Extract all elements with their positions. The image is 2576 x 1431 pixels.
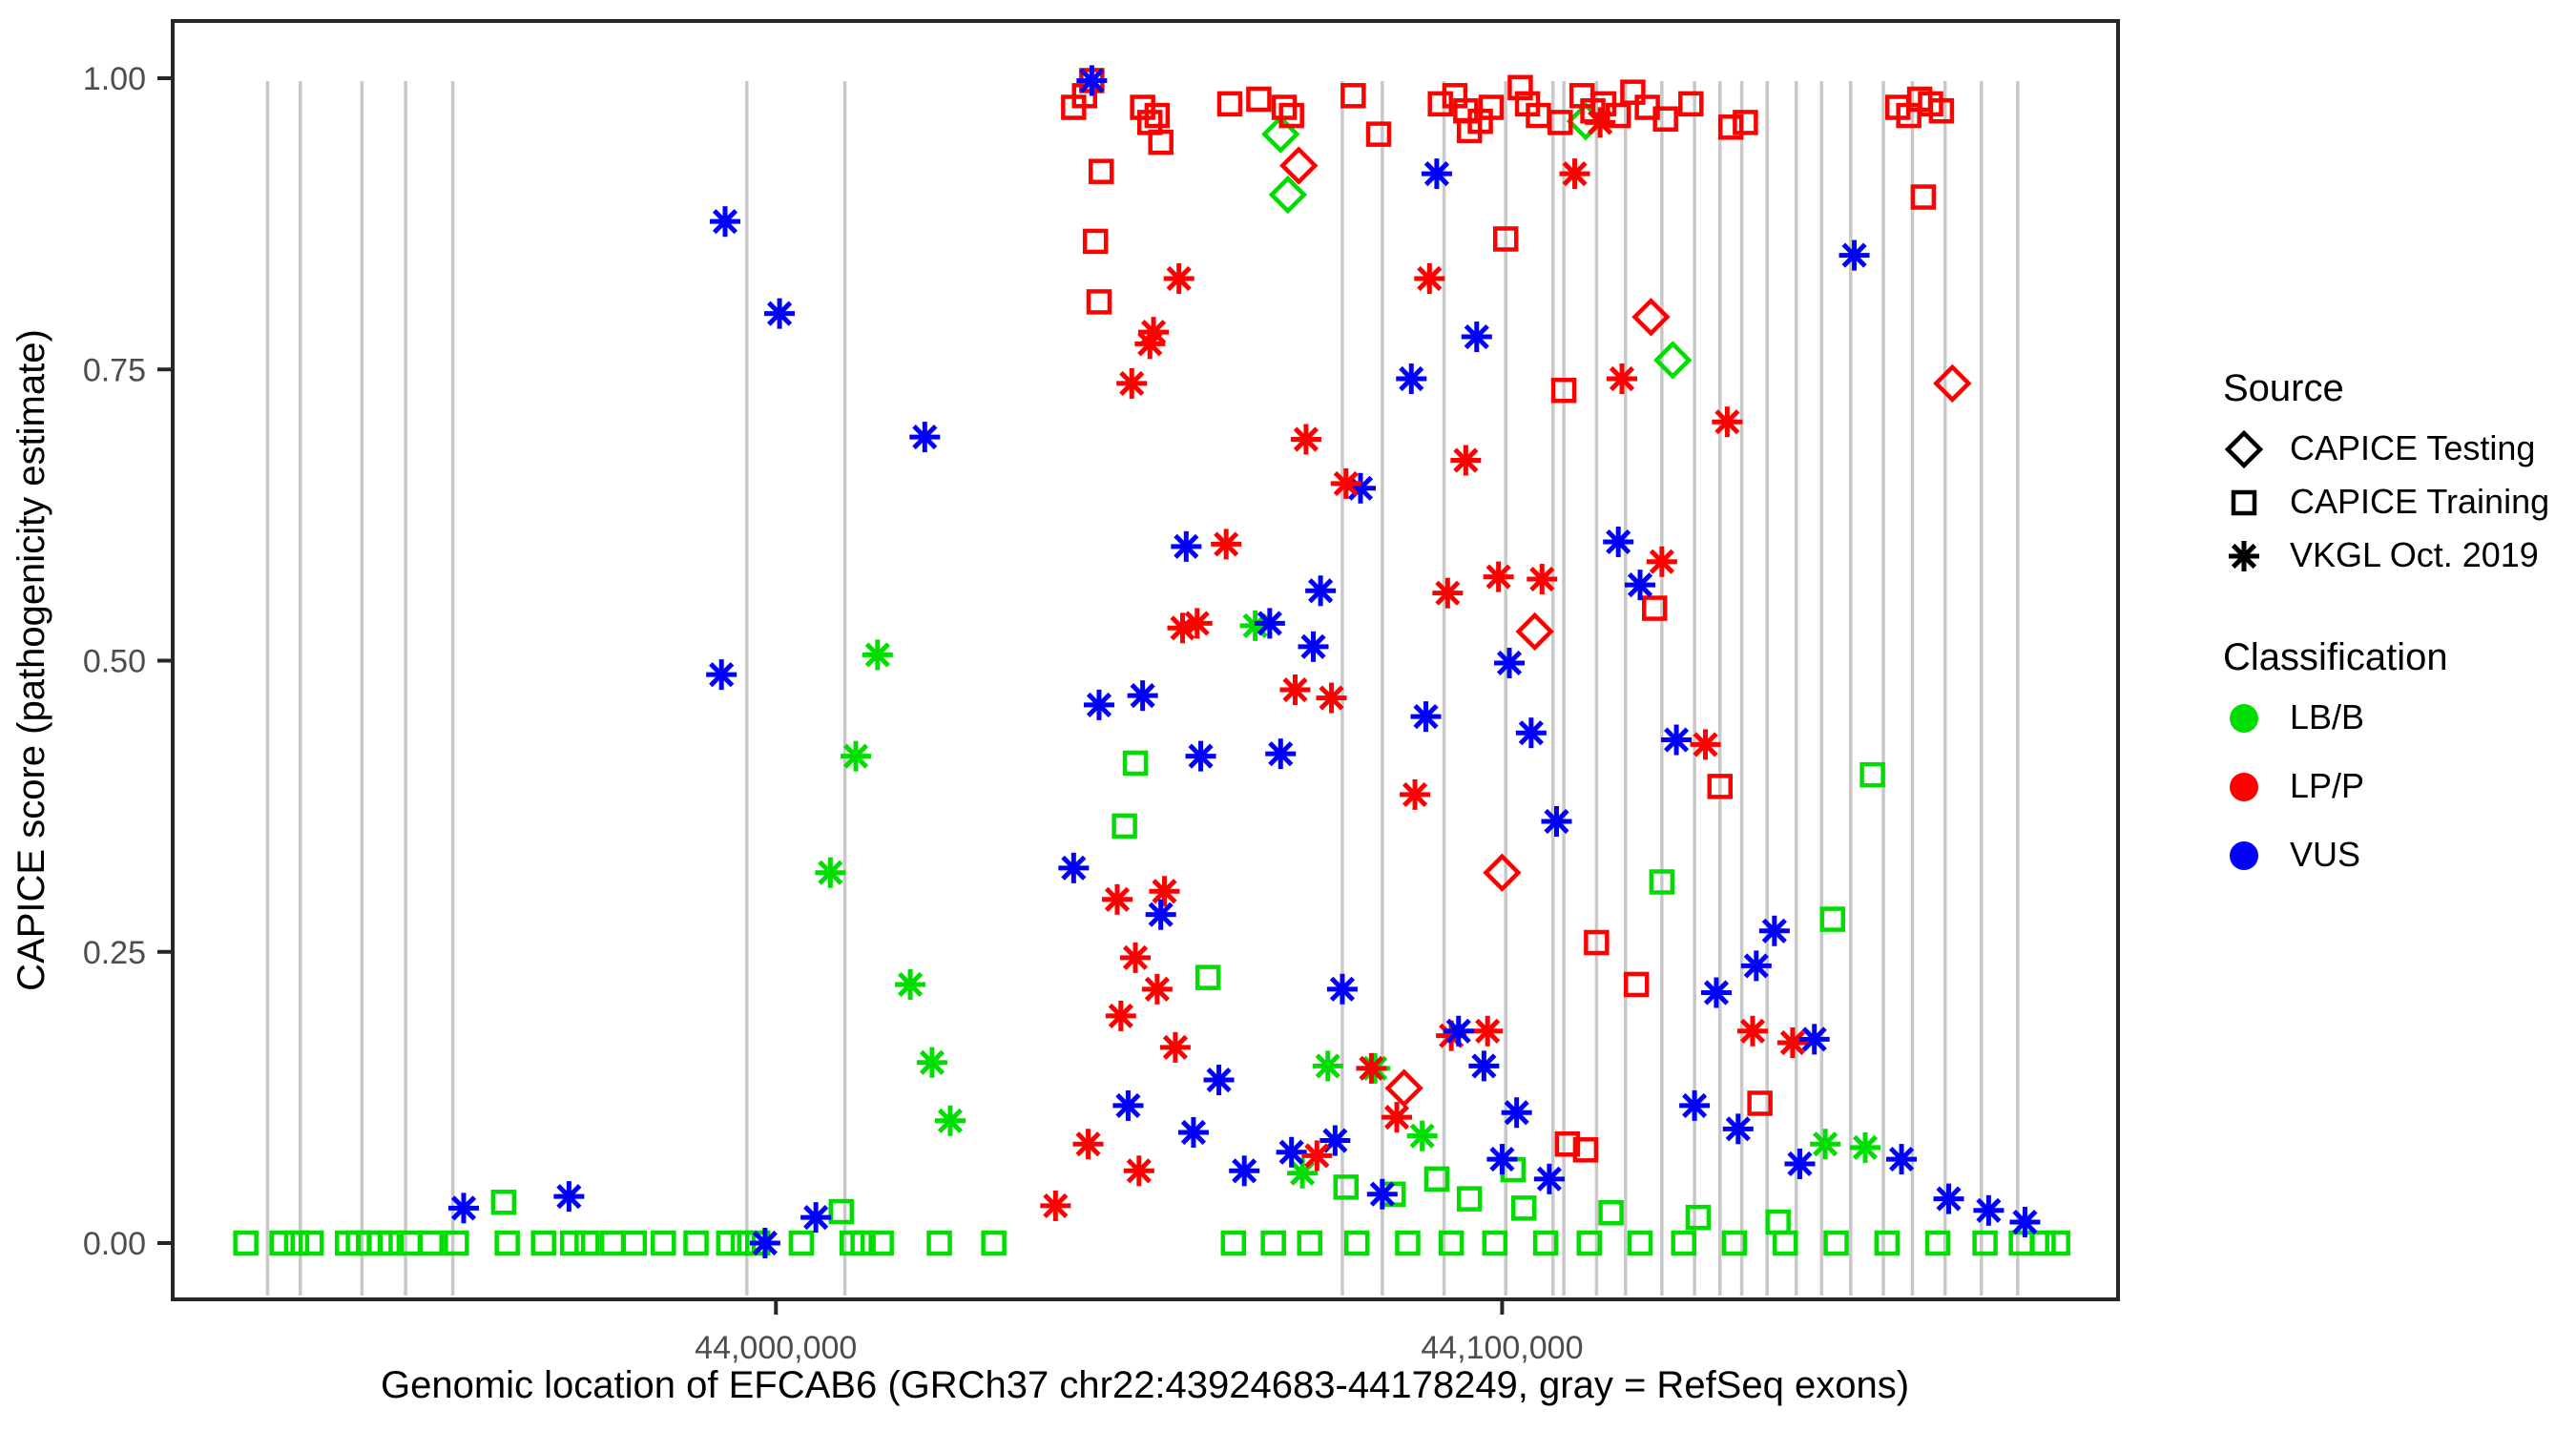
legend-item-diamond[interactable]: CAPICE Testing [2290,428,2535,467]
point-square [1091,161,1111,182]
point-asterisk [1494,648,1525,678]
point-asterisk [1178,1117,1209,1148]
legend-item-LB-B[interactable]: LB/B [2290,697,2364,736]
point-square [1223,1233,1244,1254]
point-asterisk [1484,562,1514,592]
point-square [1975,1233,1996,1254]
point-diamond [1388,1072,1421,1105]
point-square [1459,1189,1480,1210]
point-square [272,1233,293,1254]
point-asterisk [1396,363,1426,394]
point-asterisk [1265,738,1296,769]
point-asterisk [1462,321,1492,352]
point-square [1630,1233,1651,1254]
point-asterisk [1164,263,1195,294]
point-asterisk [1327,974,1358,1005]
point-asterisk [1211,529,1241,559]
point-asterisk [1839,240,1870,271]
point-asterisk [1186,741,1216,772]
point-square [1274,97,1295,118]
point-asterisk [1102,884,1132,915]
legend-item-LP-P[interactable]: LP/P [2290,766,2364,805]
point-asterisk [1279,674,1310,705]
point-square [576,1233,597,1254]
legend-swatch [2230,704,2258,733]
legend-item-square[interactable]: CAPICE Training [2290,482,2549,521]
y-axis: 0.000.250.500.751.00 [83,61,173,1262]
point-diamond [1485,857,1518,889]
y-tick-label: 1.00 [83,61,146,97]
point-square [1125,753,1146,774]
point-asterisk [1625,570,1655,600]
point-square [1342,85,1363,106]
point-square [1397,1233,1418,1254]
point-square [1680,93,1701,114]
point-square [984,1233,1005,1254]
point-asterisk [1472,1016,1503,1047]
point-asterisk [1723,1113,1754,1144]
point-square [1346,1233,1367,1254]
point-square [1626,974,1647,995]
legend-title-classification: Classification [2223,636,2448,678]
point-asterisk [1112,1090,1143,1121]
point-asterisk [1168,612,1198,643]
point-asterisk [1255,608,1285,638]
y-tick-label: 0.50 [83,644,146,680]
legend-swatch [2230,773,2258,801]
point-square [624,1233,645,1254]
point-square [1768,1212,1789,1233]
point-asterisk [1356,1053,1386,1084]
data-points-layer [236,65,2068,1258]
point-asterisk [1712,406,1742,437]
point-asterisk [862,639,893,670]
point-asterisk [1850,1132,1880,1163]
point-asterisk [1444,1016,1474,1047]
point-asterisk [1291,425,1321,455]
point-asterisk [1106,1001,1136,1031]
chart-root: 0.000.250.500.751.00 44,000,00044,100,00… [0,0,2576,1431]
point-asterisk [1128,680,1158,711]
y-axis-title: CAPICE score (pathogenicity estimate) [10,329,52,991]
point-asterisk [1647,547,1677,577]
panel-border [173,21,2118,1299]
point-asterisk [1422,158,1452,189]
x-axis-title: Genomic location of EFCAB6 (GRCh37 chr22… [381,1364,1909,1406]
point-square [1775,1233,1796,1254]
point-asterisk [1171,531,1201,562]
point-asterisk [1541,806,1571,837]
point-asterisk [1741,950,1772,981]
point-square [1826,1233,1847,1254]
point-square [2233,492,2254,513]
point-square [831,1201,852,1222]
point-asterisk [1799,1024,1830,1054]
point-square [1485,1233,1506,1254]
point-asterisk [1661,725,1692,756]
legend-swatch [2230,841,2258,870]
x-tick-label: 44,000,000 [695,1330,857,1366]
point-square [1085,231,1106,252]
point-square [1336,1176,1357,1197]
point-asterisk [2009,1207,2040,1237]
point-square [1862,764,1883,785]
point-square [493,1192,514,1213]
x-axis: 44,000,00044,100,000 [695,1299,1583,1366]
point-asterisk [1691,729,1721,759]
point-asterisk [1120,943,1151,973]
point-asterisk [1450,445,1481,475]
point-square [1688,1207,1709,1228]
point-asterisk [909,422,940,452]
point-asterisk [1124,1155,1154,1186]
point-square [1601,1202,1622,1223]
point-asterisk [2229,541,2259,571]
point-asterisk [1701,977,1732,1007]
point-asterisk [553,1181,584,1212]
point-asterisk [1886,1144,1917,1174]
point-square [1248,89,1269,110]
point-asterisk [1298,632,1329,662]
point-asterisk [1040,1191,1070,1221]
point-square [653,1233,674,1254]
point-asterisk [1468,1050,1499,1081]
point-diamond [1936,367,1968,400]
point-asterisk [917,1047,947,1078]
point-asterisk [1400,779,1430,810]
x-tick-label: 44,100,000 [1421,1330,1583,1366]
point-square [791,1233,812,1254]
point-asterisk [1527,564,1557,594]
point-asterisk [1229,1155,1259,1186]
point-asterisk [1414,263,1444,294]
point-asterisk [1073,1129,1104,1159]
point-square [1114,816,1135,837]
point-asterisk [1502,1097,1532,1128]
point-square [1089,291,1110,312]
point-square [1219,93,1240,114]
y-tick-label: 0.75 [83,352,146,388]
point-asterisk [1607,363,1637,394]
point-square [2032,1233,2053,1254]
point-square [236,1233,257,1254]
point-asterisk [1737,1016,1768,1047]
point-asterisk [935,1106,966,1136]
point-asterisk [1317,683,1347,714]
point-square [301,1233,322,1254]
point-asterisk [1313,1050,1343,1081]
point-square [1132,97,1153,118]
point-square [1513,1197,1534,1218]
point-asterisk [1560,158,1590,189]
legend-title-source: Source [2223,367,2344,409]
point-asterisk [1934,1184,1964,1214]
point-asterisk [1134,328,1165,359]
point-square [562,1233,583,1254]
point-asterisk [1076,65,1107,95]
point-asterisk [706,659,737,690]
point-asterisk [815,858,845,888]
series-square [236,70,2068,1254]
point-asterisk [1679,1090,1710,1121]
point-square [1197,967,1218,988]
point-asterisk [1331,468,1361,499]
point-asterisk [1585,107,1615,137]
point-asterisk [1305,575,1336,606]
point-asterisk [841,741,871,772]
y-tick-label: 0.00 [83,1226,146,1262]
point-square [2011,1233,2032,1254]
point-asterisk [800,1202,831,1233]
point-square [1822,909,1843,930]
point-asterisk [1759,916,1790,946]
point-square [286,1233,307,1254]
point-asterisk [1084,690,1114,720]
point-asterisk [1534,1164,1565,1194]
point-asterisk [1381,1102,1412,1132]
point-asterisk [710,206,740,237]
y-tick-label: 0.25 [83,935,146,971]
point-square [1913,187,1934,208]
point-asterisk [1301,1140,1332,1171]
point-asterisk [1367,1179,1398,1210]
point-asterisk [1777,1027,1808,1058]
point-asterisk [1277,1137,1307,1168]
point-asterisk [1146,900,1176,930]
point-asterisk [1603,527,1633,557]
legend-item-asterisk[interactable]: VKGL Oct. 2019 [2290,535,2539,574]
point-square [533,1233,554,1254]
point-square [421,1233,442,1254]
point-asterisk [448,1192,479,1223]
point-square [602,1233,623,1254]
point-asterisk [1432,578,1463,609]
point-square [718,1233,739,1254]
legend: SourceCAPICE TestingCAPICE TrainingVKGL … [2223,367,2549,874]
point-asterisk [1516,717,1547,748]
point-diamond [2228,433,2260,466]
point-asterisk [1410,701,1441,732]
point-asterisk [764,299,795,329]
point-asterisk [1973,1195,2004,1226]
point-asterisk [1160,1032,1191,1063]
point-square [929,1233,950,1254]
point-asterisk [1058,853,1089,883]
point-square [2047,1233,2068,1254]
point-asterisk [1142,974,1173,1005]
point-asterisk [750,1228,780,1258]
point-square [1430,93,1451,114]
point-asterisk [1486,1144,1517,1174]
point-square [1877,1233,1898,1254]
point-square [1299,1233,1320,1254]
point-asterisk [1149,876,1179,906]
point-asterisk [1204,1065,1235,1095]
point-square [497,1233,518,1254]
point-asterisk [1407,1121,1438,1151]
legend-item-VUS[interactable]: VUS [2290,835,2360,874]
point-square [1368,124,1389,145]
point-asterisk [1116,368,1147,399]
series-asterisk [448,65,2040,1258]
point-diamond [1519,615,1551,648]
point-square [686,1233,707,1254]
point-square [1263,1233,1284,1254]
point-asterisk [1784,1149,1815,1179]
point-asterisk [895,969,925,1000]
point-square [446,1233,467,1254]
point-asterisk [1810,1129,1840,1159]
point-square [1673,1233,1694,1254]
scatter-plot: 0.000.250.500.751.00 44,000,00044,100,00… [0,0,2576,1431]
point-square [1147,105,1168,126]
